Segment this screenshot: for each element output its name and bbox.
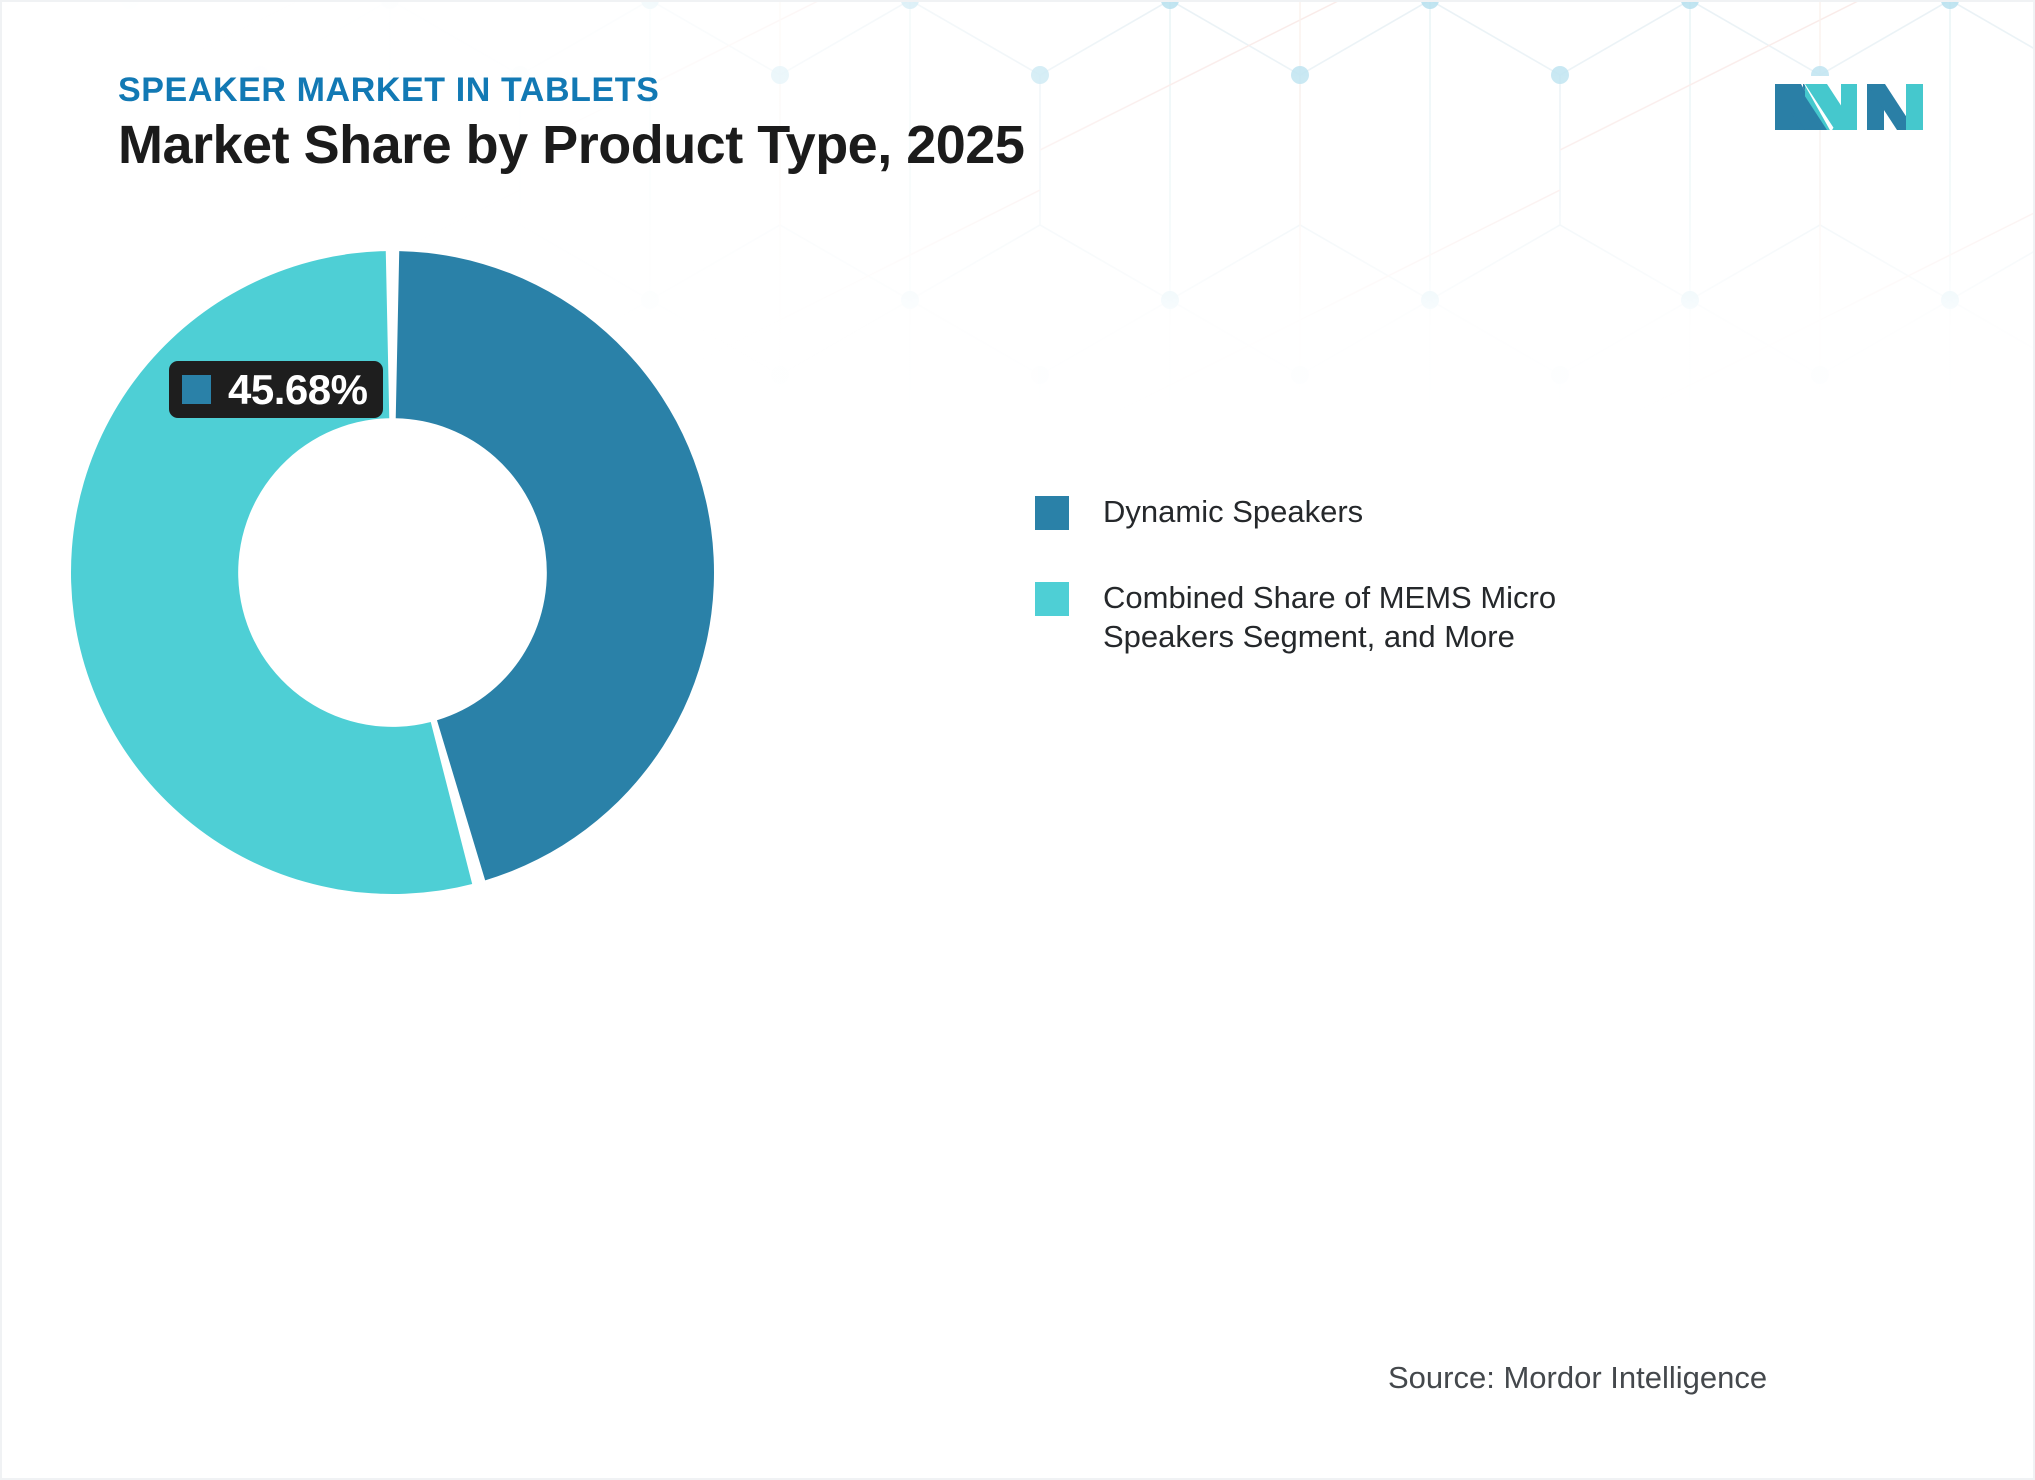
data-label-callout: 45.68% [169, 361, 383, 418]
legend-item-dynamic-speakers[interactable]: Dynamic Speakers [1035, 492, 1655, 532]
source-attribution: Source: Mordor Intelligence [1388, 1360, 1767, 1396]
header-block: SPEAKER MARKET IN TABLETS Market Share b… [118, 72, 1418, 176]
eyebrow-title: SPEAKER MARKET IN TABLETS [118, 72, 1418, 109]
legend-swatch-mems-micro-speakers [1035, 582, 1069, 616]
callout-value-text: 45.68% [228, 369, 367, 411]
legend-label-dynamic-speakers: Dynamic Speakers [1103, 492, 1363, 532]
legend-label-mems-micro-speakers: Combined Share of MEMS Micro Speakers Se… [1103, 578, 1655, 657]
callout-color-swatch [182, 375, 211, 404]
mordor-intelligence-logo [1775, 76, 1923, 138]
legend-swatch-dynamic-speakers [1035, 496, 1069, 530]
page-title: Market Share by Product Type, 2025 [118, 115, 1418, 175]
infographic-canvas: SPEAKER MARKET IN TABLETS Market Share b… [0, 0, 2035, 1480]
legend-item-mems-micro-speakers[interactable]: Combined Share of MEMS Micro Speakers Se… [1035, 578, 1655, 657]
chart-legend: Dynamic Speakers Combined Share of MEMS … [1035, 492, 1655, 703]
donut-chart [65, 245, 720, 900]
